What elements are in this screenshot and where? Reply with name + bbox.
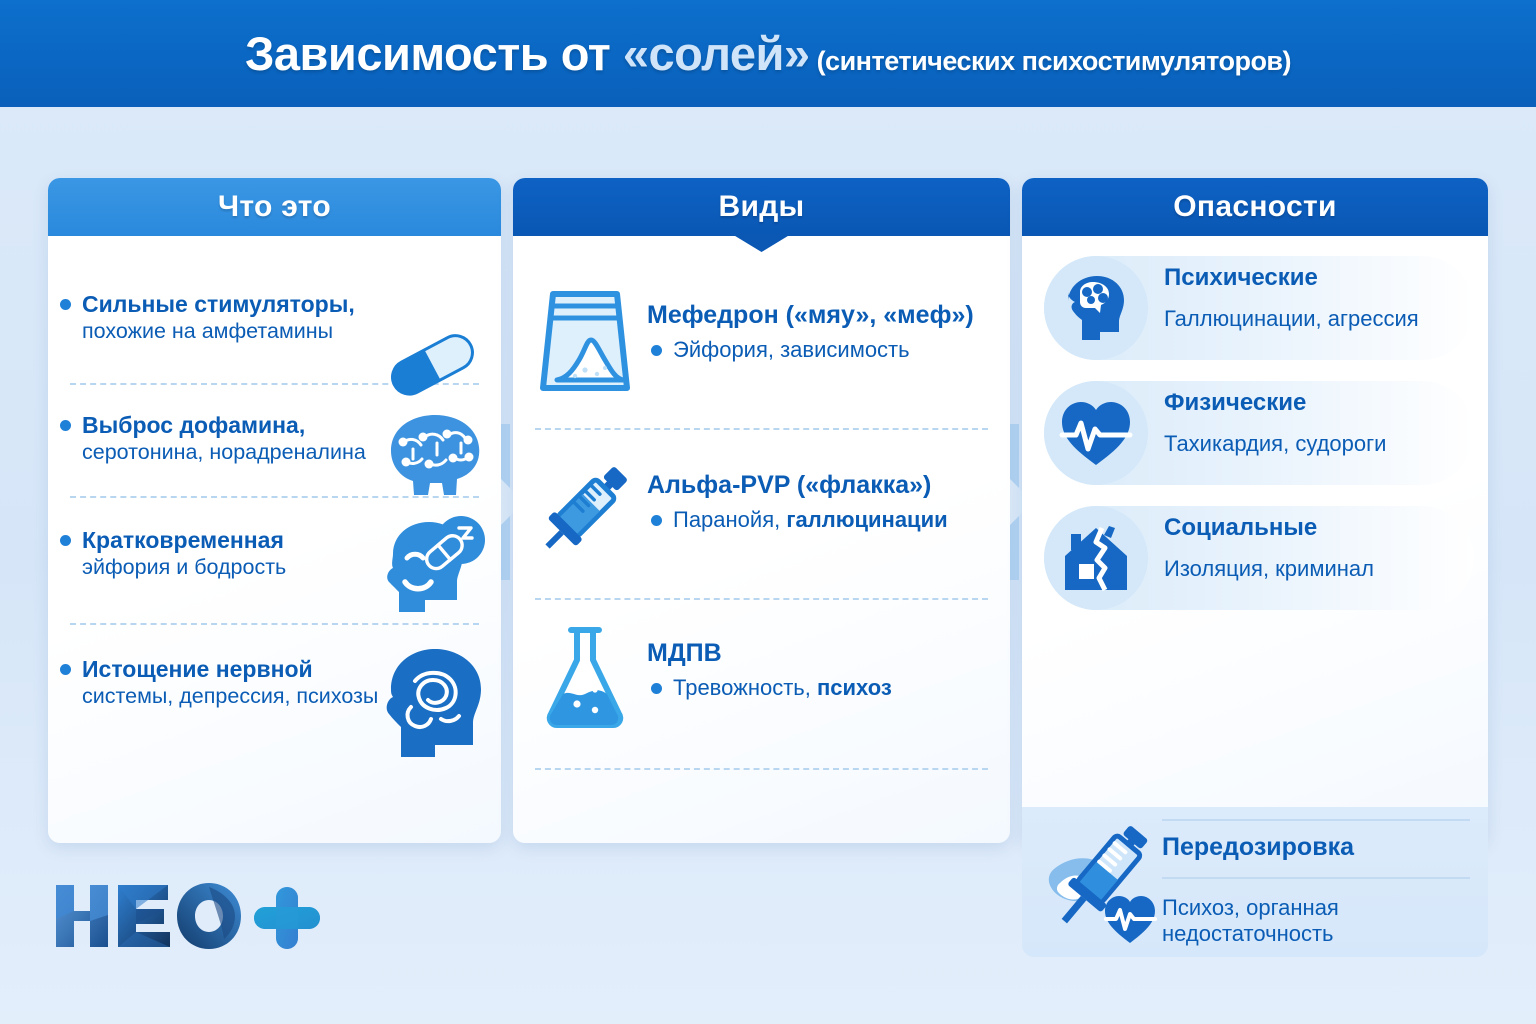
syringe-icon xyxy=(537,454,633,564)
bullet-icon xyxy=(60,664,71,675)
list-item[interactable]: Истощение нервной системы, депрессия, пс… xyxy=(48,655,501,710)
row-text-block: Психические Галлюцинации, агрессия xyxy=(1164,264,1478,332)
divider xyxy=(1162,819,1470,821)
bullet-icon xyxy=(651,345,662,356)
divider xyxy=(1162,877,1470,879)
title-quoted-text: «солей» xyxy=(623,27,810,80)
column-heading-label: Что это xyxy=(218,190,331,224)
list-item[interactable]: Психические Галлюцинации, агрессия xyxy=(1022,250,1488,375)
overdose-title: Передозировка xyxy=(1162,833,1354,862)
bullet-icon xyxy=(651,683,662,694)
heart-pulse-icon xyxy=(1058,397,1134,469)
column-types: Виды Мефедрон («мяу», «меф») Эйфория, за… xyxy=(513,178,1010,843)
bullet-icon xyxy=(651,515,662,526)
icon-badge xyxy=(1044,381,1148,485)
flask-icon xyxy=(537,622,633,732)
list-item[interactable]: Выброс дофамина, серотонина, норадренали… xyxy=(48,411,501,466)
item-line-1-bold: дофамина, xyxy=(179,412,305,438)
column-dangers: Опасности Психические Галлюцинации, агре… xyxy=(1022,178,1488,843)
column-what-is-it: Что это Сильные стимуляторы, похожие на … xyxy=(48,178,501,843)
item-subtitle-plain: Эйфория, зависимость xyxy=(673,337,910,362)
column-body-what-is-it: Сильные стимуляторы, похожие на амфетами… xyxy=(48,236,501,843)
overdose-sub-line-1: Психоз, органная xyxy=(1162,895,1339,920)
column-heading-label: Опасности xyxy=(1173,190,1336,224)
item-subtitle: Паранойя, галлюцинации xyxy=(647,506,948,534)
icon-badge xyxy=(1044,506,1148,610)
item-subtitle: Тахикардия, судороги xyxy=(1164,431,1478,457)
item-subtitle: Изоляция, криминал xyxy=(1164,556,1478,582)
item-title: Мефедрон («мяу», «меф») xyxy=(647,300,974,330)
head-brain-icon xyxy=(1058,270,1134,346)
item-title: МДПВ xyxy=(647,638,892,668)
overdose-sub-line-2: недостаточность xyxy=(1162,921,1334,946)
item-subtitle-plain: Тревожность, xyxy=(673,675,817,700)
item-line-1: Сильные стимуляторы, xyxy=(82,290,479,318)
overdose-panel[interactable]: Передозировка Психоз, органная недостато… xyxy=(1022,807,1488,957)
brand-logo[interactable] xyxy=(48,875,348,965)
page-header: Зависимость от «солей» (синтетических пс… xyxy=(0,0,1536,107)
bullet-icon xyxy=(60,420,71,431)
broken-house-icon xyxy=(1057,522,1135,594)
item-title: Социальные xyxy=(1164,514,1478,542)
column-header-types: Виды xyxy=(513,178,1010,236)
item-subtitle: Галлюцинации, агрессия xyxy=(1164,306,1478,332)
item-line-1-plain: Выброс xyxy=(82,412,179,438)
column-body-dangers: Психические Галлюцинации, агрессия Физич… xyxy=(1022,236,1488,843)
column-heading-label: Виды xyxy=(719,190,805,224)
bullet-icon xyxy=(60,535,71,546)
infographic-board: Что это Сильные стимуляторы, похожие на … xyxy=(0,107,1536,1024)
item-text-block: МДПВ Тревожность, психоз xyxy=(647,622,892,702)
item-subtitle-bold: галлюцинации xyxy=(786,507,947,532)
head-tangled-brain-icon xyxy=(371,641,497,757)
head-pill-happy-icon xyxy=(363,514,493,626)
list-item[interactable]: Кратковременная эйфория и бодрость xyxy=(48,526,501,581)
page-title: Зависимость от «солей» (синтетических пс… xyxy=(245,26,1291,81)
list-item[interactable]: Мефедрон («мяу», «меф») Эйфория, зависим… xyxy=(513,284,1010,394)
column-body-types: Мефедрон («мяу», «меф») Эйфория, зависим… xyxy=(513,236,1010,843)
column-header-dangers: Опасности xyxy=(1022,178,1488,236)
item-text-block: Мефедрон («мяу», «меф») Эйфория, зависим… xyxy=(647,284,974,364)
divider xyxy=(535,598,988,600)
icon-badge xyxy=(1044,256,1148,360)
item-text-block: Альфа-PVP («флакка») Паранойя, галлюцина… xyxy=(647,454,948,534)
list-item[interactable]: Альфа-PVP («флакка») Паранойя, галлюцина… xyxy=(513,454,1010,564)
powder-bag-icon xyxy=(537,284,633,394)
list-item[interactable]: Социальные Изоляция, криминал xyxy=(1022,500,1488,625)
title-subtitle-text: (синтетических психостимуляторов) xyxy=(810,46,1291,76)
bullet-icon xyxy=(60,299,71,310)
item-title: Физические xyxy=(1164,389,1478,417)
item-title: Альфа-PVP («флакка») xyxy=(647,470,948,500)
divider xyxy=(535,428,988,430)
column-header-what-is-it: Что это xyxy=(48,178,501,236)
row-text-block: Физические Тахикардия, судороги xyxy=(1164,389,1478,457)
title-main-text: Зависимость от xyxy=(245,27,623,80)
row-text-block: Социальные Изоляция, криминал xyxy=(1164,514,1478,582)
overdose-subtitle: Психоз, органная недостаточность xyxy=(1162,895,1474,947)
capsule-pill-icon xyxy=(377,328,487,400)
item-subtitle: Тревожность, психоз xyxy=(647,674,892,702)
divider xyxy=(535,768,988,770)
list-item[interactable]: Сильные стимуляторы, похожие на амфетами… xyxy=(48,290,501,345)
item-subtitle-bold: психоз xyxy=(817,675,892,700)
neo-plus-logo-icon xyxy=(48,875,348,965)
item-subtitle-plain: Паранойя, xyxy=(673,507,786,532)
brain-network-icon xyxy=(373,407,493,503)
list-item[interactable]: МДПВ Тревожность, психоз xyxy=(513,622,1010,732)
list-item[interactable]: Физические Тахикардия, судороги xyxy=(1022,375,1488,500)
item-title: Психические xyxy=(1164,264,1478,292)
syringe-powder-heart-icon xyxy=(1032,817,1166,949)
item-subtitle: Эйфория, зависимость xyxy=(647,336,974,364)
